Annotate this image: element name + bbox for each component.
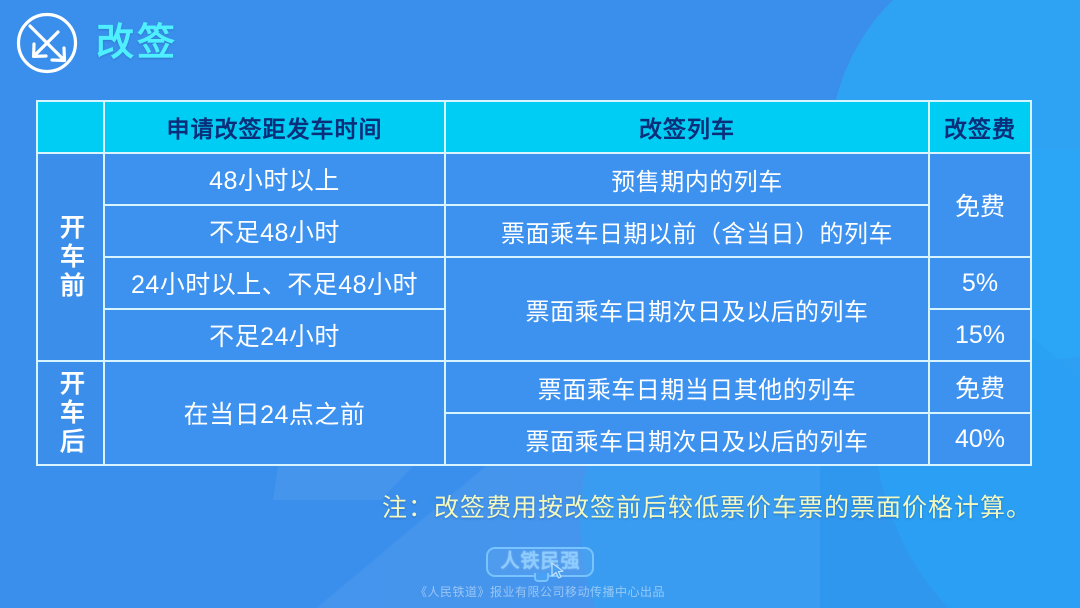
fee-cell: 15% [929,309,1031,361]
exchange-circle-icon [14,10,80,76]
stage-label-before-departure: 开车前 [37,153,104,361]
train-scope-cell: 票面乘车日期以前（含当日）的列车 [445,205,929,257]
page-title: 改签 [96,24,178,62]
time-condition-cell: 24小时以上、不足48小时 [104,257,445,309]
time-condition-cell: 在当日24点之前 [104,361,445,465]
page-header: 改签 [14,10,178,76]
train-scope-cell: 预售期内的列车 [445,153,929,205]
table-row: 24小时以上、不足48小时 票面乘车日期次日及以后的列车 5% [37,257,1031,309]
train-scope-cell: 票面乘车日期次日及以后的列车 [445,257,929,361]
train-scope-cell: 票面乘车日期当日其他的列车 [445,361,929,413]
fee-cell: 40% [929,413,1031,465]
publisher-logo: 人 铁 民 强 [486,547,593,577]
footnote-text: 注：改签费用按改签前后较低票价车票的票面价格计算。 [382,488,1032,524]
table-row: 开车后 在当日24点之前 票面乘车日期当日其他的列车 免费 [37,361,1031,413]
column-header-train: 改签列车 [445,101,929,153]
infographic-page: 改签 申请改签距发车时间 改签列车 改签费 开车前 48小时以上 预售期内的列车… [0,0,1080,608]
cursor-arrow-icon [550,562,566,580]
train-scope-cell: 票面乘车日期次日及以后的列车 [445,413,929,465]
column-header-stage [37,101,104,153]
table-header-row: 申请改签距发车时间 改签列车 改签费 [37,101,1031,153]
fee-cell: 免费 [929,361,1031,413]
change-ticket-fee-table: 申请改签距发车时间 改签列车 改签费 开车前 48小时以上 预售期内的列车 免费… [36,100,1032,466]
fee-cell: 5% [929,257,1031,309]
stage-label-after-departure: 开车后 [37,361,104,465]
column-header-fee: 改签费 [929,101,1031,153]
time-condition-cell: 不足48小时 [104,205,445,257]
table-row: 不足48小时 票面乘车日期以前（含当日）的列车 [37,205,1031,257]
table-row: 开车前 48小时以上 预售期内的列车 免费 [37,153,1031,205]
column-header-time: 申请改签距发车时间 [104,101,445,153]
logo-char-2: 铁 [520,552,539,572]
fee-cell: 免费 [929,153,1031,257]
logo-char-1: 人 [500,552,519,572]
time-condition-cell: 48小时以上 [104,153,445,205]
time-condition-cell: 不足24小时 [104,309,445,361]
footer: 人 铁 民 强 《人民铁道》报业有限公司移动传播中心出品 [0,547,1080,600]
publisher-credit: 《人民铁道》报业有限公司移动传播中心出品 [415,583,665,600]
